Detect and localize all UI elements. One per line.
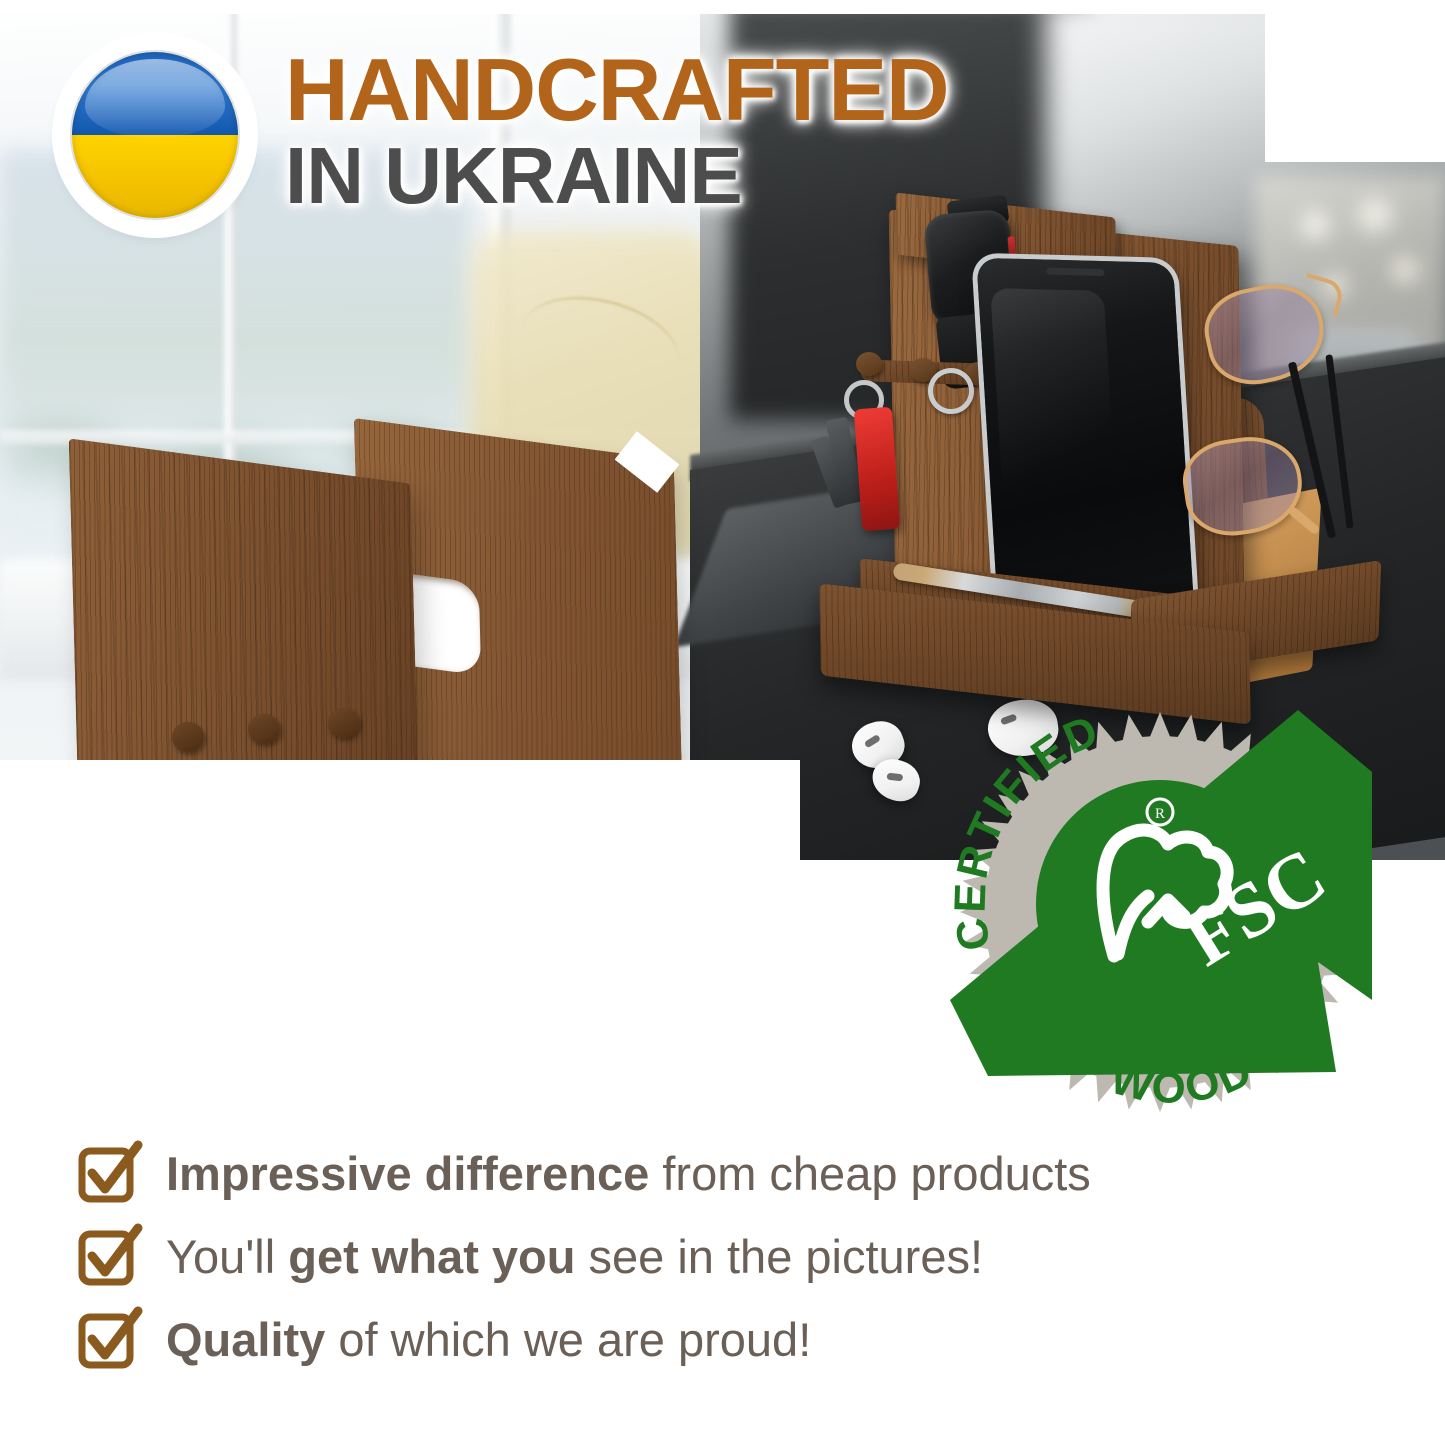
- list-item: Quality of which we are proud!: [78, 1298, 1408, 1381]
- key-peg: [328, 708, 360, 738]
- benefit-lead: You'll: [166, 1230, 288, 1283]
- benefit-rest: from cheap products: [649, 1147, 1091, 1200]
- key-peg: [856, 352, 882, 376]
- benefit-text: Impressive difference from cheap product…: [166, 1149, 1091, 1198]
- benefits-list: Impressive difference from cheap product…: [78, 1132, 1408, 1381]
- eyeglass-tip: [1287, 505, 1320, 535]
- white-mask-lower-left: [0, 760, 800, 1130]
- white-mask-top-right: [1265, 0, 1445, 162]
- earbud-stem: [864, 734, 881, 748]
- benefit-rest: of which we are proud!: [325, 1313, 811, 1366]
- list-item: Impressive difference from cheap product…: [78, 1132, 1408, 1215]
- benefit-text: Quality of which we are proud!: [166, 1315, 811, 1364]
- key-peg: [172, 722, 204, 752]
- ukraine-flag-badge: [62, 42, 248, 228]
- phone-screen-gloss: [990, 288, 1118, 521]
- benefit-bold: Quality: [166, 1313, 325, 1366]
- flag-rim: [70, 50, 240, 220]
- phone-notch: [1046, 268, 1105, 277]
- headline-line-1: HANDCRAFTED: [285, 48, 1285, 132]
- fsc-certified-wood-badge: R FSC CERTIFIED WOOD: [948, 700, 1372, 1116]
- benefit-bold: Impressive difference: [166, 1147, 649, 1200]
- list-item: You'll get what you see in the pictures!: [78, 1215, 1408, 1298]
- checkbox-checked-icon: [78, 1143, 140, 1205]
- product-photo-loaded-dock: [800, 210, 1420, 730]
- key-peg: [248, 714, 280, 744]
- earbud-stem: [887, 773, 904, 782]
- checkbox-checked-icon: [78, 1226, 140, 1288]
- benefit-text: You'll get what you see in the pictures!: [166, 1232, 983, 1281]
- svg-text:R: R: [1155, 806, 1165, 822]
- benefit-rest: see in the pictures!: [575, 1230, 983, 1283]
- benefit-bold: get what you: [288, 1230, 575, 1283]
- marketing-banner: HANDCRAFTED IN UKRAINE: [0, 0, 1445, 1445]
- eyeglasses: [1190, 268, 1410, 568]
- headline-block: HANDCRAFTED IN UKRAINE: [285, 48, 1285, 215]
- eyeglass-arm: [1325, 354, 1353, 529]
- eyeglass-lens: [1178, 430, 1308, 541]
- checkbox-checked-icon: [78, 1309, 140, 1371]
- headline-line-2: IN UKRAINE: [285, 138, 1285, 215]
- white-mask-top: [0, 0, 1445, 14]
